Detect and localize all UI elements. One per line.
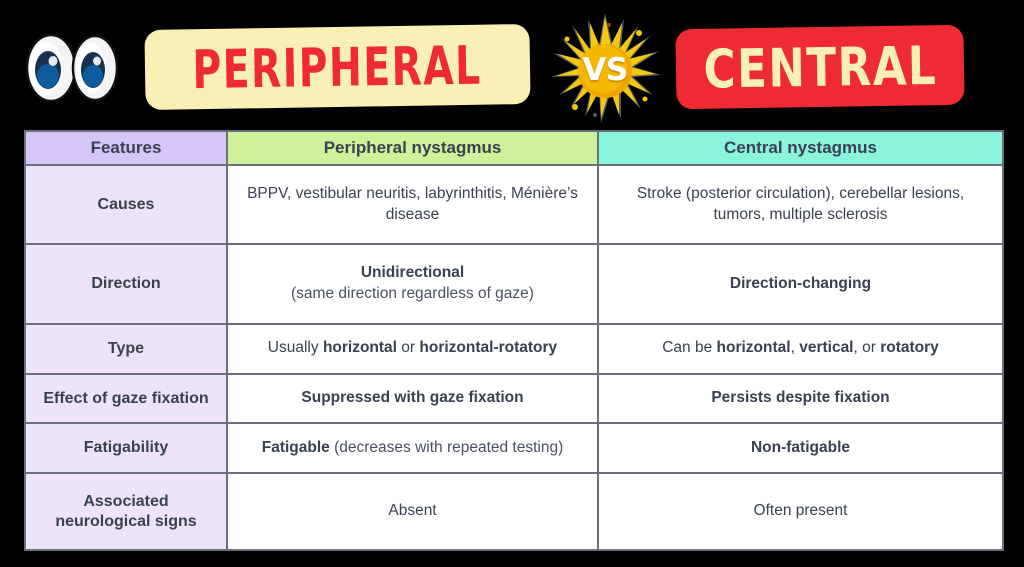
comparison-table-wrapper: Features Peripheral nystagmus Central ny… (24, 130, 1002, 551)
peripheral-type-term-1: horizontal (323, 339, 397, 356)
table-row: Effect of gaze fixation Suppressed with … (25, 374, 1003, 424)
peripheral-type-term-2: horizontal-rotatory (419, 339, 557, 356)
peripheral-value-causes: BPPV, vestibular neuritis, labyrinthitis… (227, 165, 598, 244)
central-type-term-2: vertical (799, 339, 853, 356)
peripheral-value-gaze-fixation: Suppressed with gaze fixation (227, 374, 598, 424)
peripheral-title-banner: PERIPHERAL (144, 24, 530, 110)
eyes-icon (18, 28, 128, 108)
peripheral-direction-main: Unidirectional (361, 264, 464, 281)
table-row: Type Usually horizontal or horizontal-ro… (25, 324, 1003, 374)
central-value-type: Can be horizontal, vertical, or rotatory (598, 324, 1003, 374)
central-value-fatigability: Non-fatigable (598, 423, 1003, 473)
peripheral-value-type: Usually horizontal or horizontal-rotator… (227, 324, 598, 374)
central-value-associated-signs: Often present (598, 473, 1003, 550)
peripheral-title-text: PERIPHERAL (192, 33, 482, 100)
feature-label-associated-signs: Associated neurological signs (25, 473, 227, 550)
vs-burst-badge: VS (543, 12, 667, 126)
column-header-features: Features (25, 131, 227, 165)
comparison-table: Features Peripheral nystagmus Central ny… (24, 130, 1004, 551)
column-header-central: Central nystagmus (598, 131, 1003, 165)
peripheral-fatigability-note: (decreases with repeated testing) (330, 439, 563, 456)
peripheral-value-fatigability: Fatigable (decreases with repeated testi… (227, 423, 598, 473)
central-type-sep-2: , or (854, 339, 881, 356)
table-row: Associated neurological signs Absent Oft… (25, 473, 1003, 550)
central-title-text: CENTRAL (703, 34, 938, 100)
column-header-peripheral: Peripheral nystagmus (227, 131, 598, 165)
table-row: Fatigability Fatigable (decreases with r… (25, 423, 1003, 473)
table-row: Direction Unidirectional (same direction… (25, 244, 1003, 323)
central-value-causes: Stroke (posterior circulation), cerebell… (598, 165, 1003, 244)
central-title-banner: CENTRAL (675, 25, 964, 110)
central-value-gaze-fixation: Persists despite fixation (598, 374, 1003, 424)
central-value-direction: Direction-changing (598, 244, 1003, 323)
central-type-sep-1: , (791, 339, 800, 356)
central-type-term-3: rotatory (880, 339, 939, 356)
peripheral-type-prefix: Usually (268, 339, 323, 356)
feature-label-gaze-fixation: Effect of gaze fixation (25, 374, 227, 424)
feature-label-causes: Causes (25, 165, 227, 244)
central-type-term-1: horizontal (717, 339, 791, 356)
table-row: Causes BPPV, vestibular neuritis, labyri… (25, 165, 1003, 244)
vs-label-text: VS (543, 13, 667, 127)
peripheral-value-associated-signs: Absent (227, 473, 598, 550)
central-type-prefix: Can be (662, 339, 716, 356)
feature-label-direction: Direction (25, 244, 227, 323)
peripheral-type-conj: or (397, 339, 419, 356)
peripheral-value-direction: Unidirectional (same direction regardles… (227, 244, 598, 323)
table-header-row: Features Peripheral nystagmus Central ny… (25, 131, 1003, 165)
feature-label-fatigability: Fatigability (25, 423, 227, 473)
feature-label-type: Type (25, 324, 227, 374)
header-banner-area: PERIPHERAL VS CENTRAL (0, 0, 1024, 130)
peripheral-fatigability-term: Fatigable (262, 439, 330, 456)
peripheral-direction-note: (same direction regardless of gaze) (291, 285, 534, 302)
